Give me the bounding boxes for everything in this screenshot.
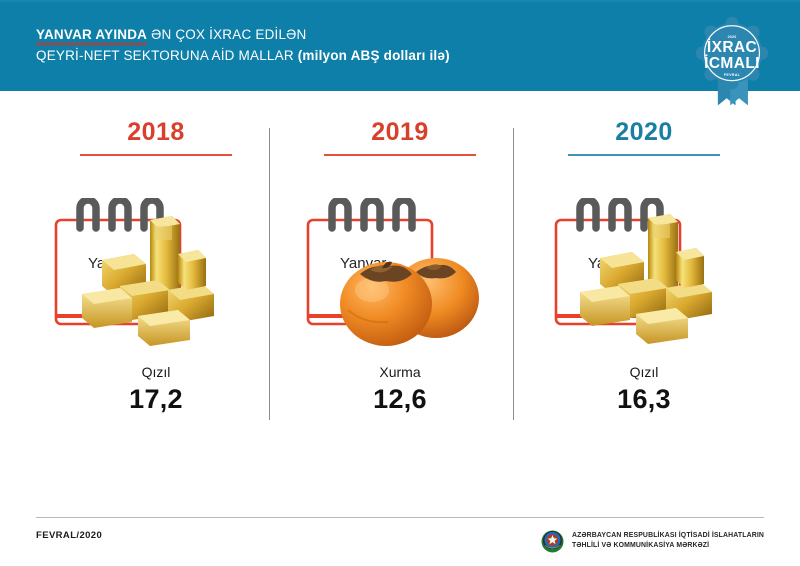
footer-divider	[36, 517, 764, 518]
azerbaijan-coat-of-arms-icon	[540, 529, 565, 554]
illustration-2020: Yanvar	[530, 198, 758, 358]
footer-organization-text: AZƏRBAYCAN RESPUBLİKASI İQTİSADİ İSLAHAT…	[572, 531, 764, 552]
year-underline-2020	[568, 154, 720, 156]
header-line-2-bold: (milyon ABŞ dolları ilə)	[298, 48, 450, 63]
header-line-1-rest: ƏN ÇOX İXRAC EDİLƏN	[147, 27, 306, 42]
header-line-1: YANVAR AYINDA ƏN ÇOX İXRAC EDİLƏN	[36, 26, 450, 44]
header-top-edge	[0, 0, 800, 2]
year-underline-2018	[80, 154, 232, 156]
product-value-2018: 17,2	[42, 384, 270, 415]
year-underline-2019	[324, 154, 476, 156]
column-divider-2	[513, 128, 514, 420]
column-2019: 2019 Yanvar	[286, 112, 514, 422]
product-label-2020: Qızıl	[530, 364, 758, 380]
product-value-2019: 12,6	[286, 384, 514, 415]
product-label-2018: Qızıl	[42, 364, 270, 380]
data-columns: 2018 Yanvar	[0, 112, 800, 422]
illustration-2018: Yanvar	[42, 198, 270, 358]
infographic-page: YANVAR AYINDA ƏN ÇOX İXRAC EDİLƏN QEYRİ-…	[0, 0, 800, 566]
product-label-2019: Xurma	[286, 364, 514, 380]
badge-shape-icon	[686, 16, 778, 108]
calendar-persimmon-icon: Yanvar	[286, 198, 514, 358]
column-2018: 2018 Yanvar	[42, 112, 270, 422]
header-emphasis: YANVAR AYINDA	[36, 27, 147, 45]
footer-organization: AZƏRBAYCAN RESPUBLİKASI İQTİSADİ İSLAHAT…	[540, 524, 772, 558]
header-line-2: QEYRİ-NEFT SEKTORUNA AİD MALLAR (milyon …	[36, 47, 450, 65]
year-label-2018: 2018	[42, 118, 270, 147]
illustration-2019: Yanvar	[286, 198, 514, 358]
header-title-block: YANVAR AYINDA ƏN ÇOX İXRAC EDİLƏN QEYRİ-…	[36, 26, 450, 65]
year-label-2019: 2019	[286, 118, 514, 147]
column-divider-1	[269, 128, 270, 420]
year-label-2020: 2020	[530, 118, 758, 147]
footer-org-line-2: TƏHLİLİ VƏ KOMMUNİKASİYA MƏRKƏZİ	[572, 541, 764, 551]
footer-date: FEVRAL/2020	[36, 530, 102, 541]
calendar-gold-bars-icon: Yanvar	[42, 198, 270, 358]
header-line-2-normal: QEYRİ-NEFT SEKTORUNA AİD MALLAR	[36, 48, 298, 63]
ixrac-icmali-badge: 2020 İXRAC İCMALI FEVRAL	[686, 16, 778, 120]
header-band: YANVAR AYINDA ƏN ÇOX İXRAC EDİLƏN QEYRİ-…	[0, 0, 800, 91]
footer-org-line-1: AZƏRBAYCAN RESPUBLİKASI İQTİSADİ İSLAHAT…	[572, 531, 764, 541]
product-value-2020: 16,3	[530, 384, 758, 415]
persimmon-icon	[340, 258, 479, 346]
calendar-gold-bars-icon: Yanvar	[530, 198, 758, 358]
column-2020: 2020 Yanvar	[530, 112, 758, 422]
